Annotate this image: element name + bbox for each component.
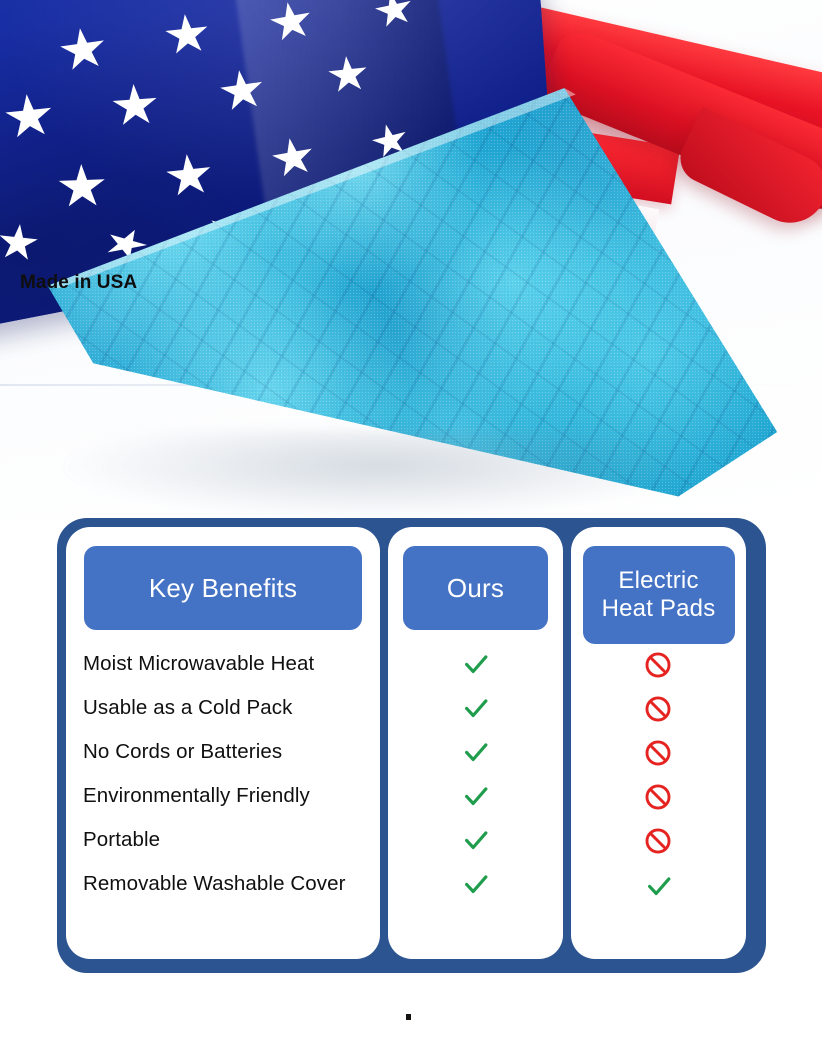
prohibited-icon	[644, 783, 674, 813]
benefit-label: Moist Microwavable Heat	[83, 652, 314, 676]
benefit-label-list: Moist Microwavable Heat Usable as a Cold…	[66, 642, 380, 906]
benefit-label: Removable Washable Cover	[83, 872, 346, 896]
table-row	[571, 732, 746, 776]
table-row: Usable as a Cold Pack	[66, 686, 380, 730]
benefit-label: Environmentally Friendly	[83, 784, 310, 808]
table-row	[571, 776, 746, 820]
product-infographic: Made in USA Key Benefits Moist Microwava…	[0, 0, 822, 1037]
check-icon	[461, 693, 491, 723]
table-row	[388, 862, 563, 906]
column-header-electric-line2: Heat Pads	[602, 595, 716, 622]
pad-drop-shadow	[58, 430, 698, 520]
prohibited-icon	[644, 827, 674, 857]
table-row	[388, 818, 563, 862]
table-row	[571, 688, 746, 732]
table-row	[571, 644, 746, 688]
benefit-label: No Cords or Batteries	[83, 740, 282, 764]
made-in-usa-caption: Made in USA	[20, 272, 137, 294]
prohibited-icon	[644, 739, 674, 769]
table-row: Removable Washable Cover	[66, 862, 380, 906]
check-icon	[461, 869, 491, 899]
check-icon	[461, 781, 491, 811]
check-icon	[644, 871, 674, 901]
benefit-label: Usable as a Cold Pack	[83, 696, 292, 720]
electric-mark-list	[571, 644, 746, 908]
table-row: Portable	[66, 818, 380, 862]
column-header-electric-heat-pads: Electric Heat Pads	[583, 546, 735, 644]
table-row: Environmentally Friendly	[66, 774, 380, 818]
column-ours: Ours	[388, 527, 563, 959]
table-row	[571, 864, 746, 908]
comparison-table: Key Benefits Moist Microwavable Heat Usa…	[57, 518, 766, 973]
column-header-ours: Ours	[403, 546, 548, 630]
prohibited-icon	[644, 651, 674, 681]
table-row	[388, 642, 563, 686]
table-row	[571, 820, 746, 864]
table-row: No Cords or Batteries	[66, 730, 380, 774]
column-electric-heat-pads: Electric Heat Pads	[571, 527, 746, 959]
column-header-key-benefits: Key Benefits	[84, 546, 362, 630]
table-row	[388, 730, 563, 774]
check-icon	[461, 737, 491, 767]
prohibited-icon	[644, 695, 674, 725]
table-row: Moist Microwavable Heat	[66, 642, 380, 686]
column-key-benefits: Key Benefits Moist Microwavable Heat Usa…	[66, 527, 380, 959]
column-header-electric-line1: Electric	[618, 567, 698, 594]
check-icon	[461, 825, 491, 855]
page-artifact-dot	[406, 1014, 411, 1020]
check-icon	[461, 649, 491, 679]
benefit-label: Portable	[83, 828, 160, 852]
table-row	[388, 686, 563, 730]
table-row	[388, 774, 563, 818]
ours-mark-list	[388, 642, 563, 906]
product-photo: Made in USA	[0, 0, 822, 520]
